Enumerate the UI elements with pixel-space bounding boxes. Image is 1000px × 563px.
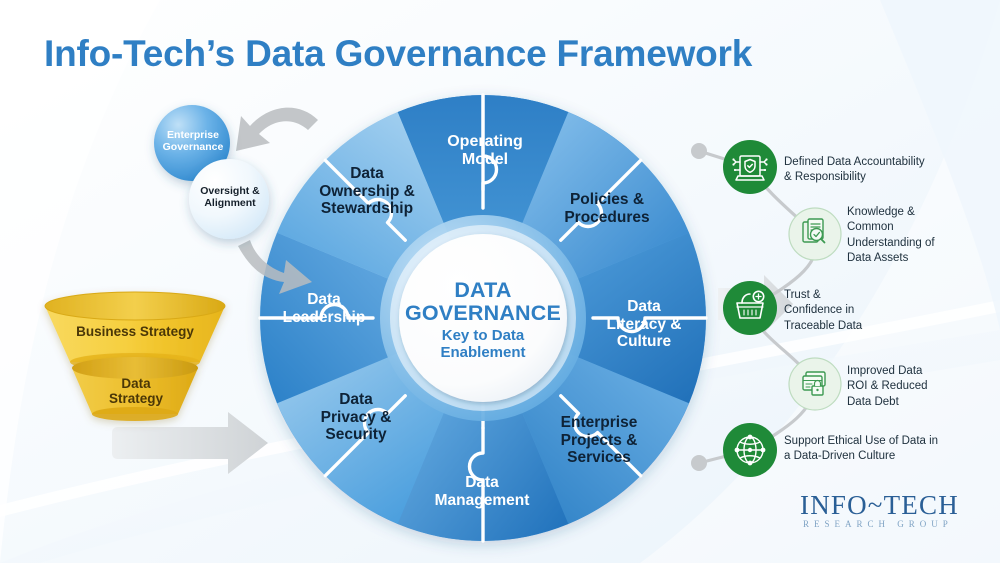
framework-infographic: Info-Tech’s Data Governance Framework — [0, 0, 1000, 563]
benefit-text-2: Knowledge & Common Understanding of Data… — [847, 205, 997, 266]
benefit-text-4: Improved Data ROI & Reduced Data Debt — [847, 364, 997, 410]
benefit-text-5: Support Ethical Use of Data in a Data-Dr… — [784, 434, 992, 465]
benefit-text-1: Defined Data Accountability & Responsibi… — [784, 155, 988, 186]
benefit-icon-4 — [789, 358, 841, 410]
info-tech-logo: INFO~TECH — [800, 490, 959, 521]
benefit-icon-5 — [723, 423, 777, 477]
benefit-icon-1 — [723, 140, 777, 194]
benefit-icon-2 — [789, 208, 841, 260]
chain-endpoint-dot-bottom — [691, 455, 707, 471]
benefit-text-3: Trust & Confidence in Traceable Data — [784, 288, 934, 334]
benefit-icon-3 — [723, 281, 777, 335]
info-tech-logo-tagline: RESEARCH GROUP — [803, 519, 953, 529]
benefits-chain — [0, 0, 1000, 563]
chain-endpoint-dot-top — [691, 143, 707, 159]
